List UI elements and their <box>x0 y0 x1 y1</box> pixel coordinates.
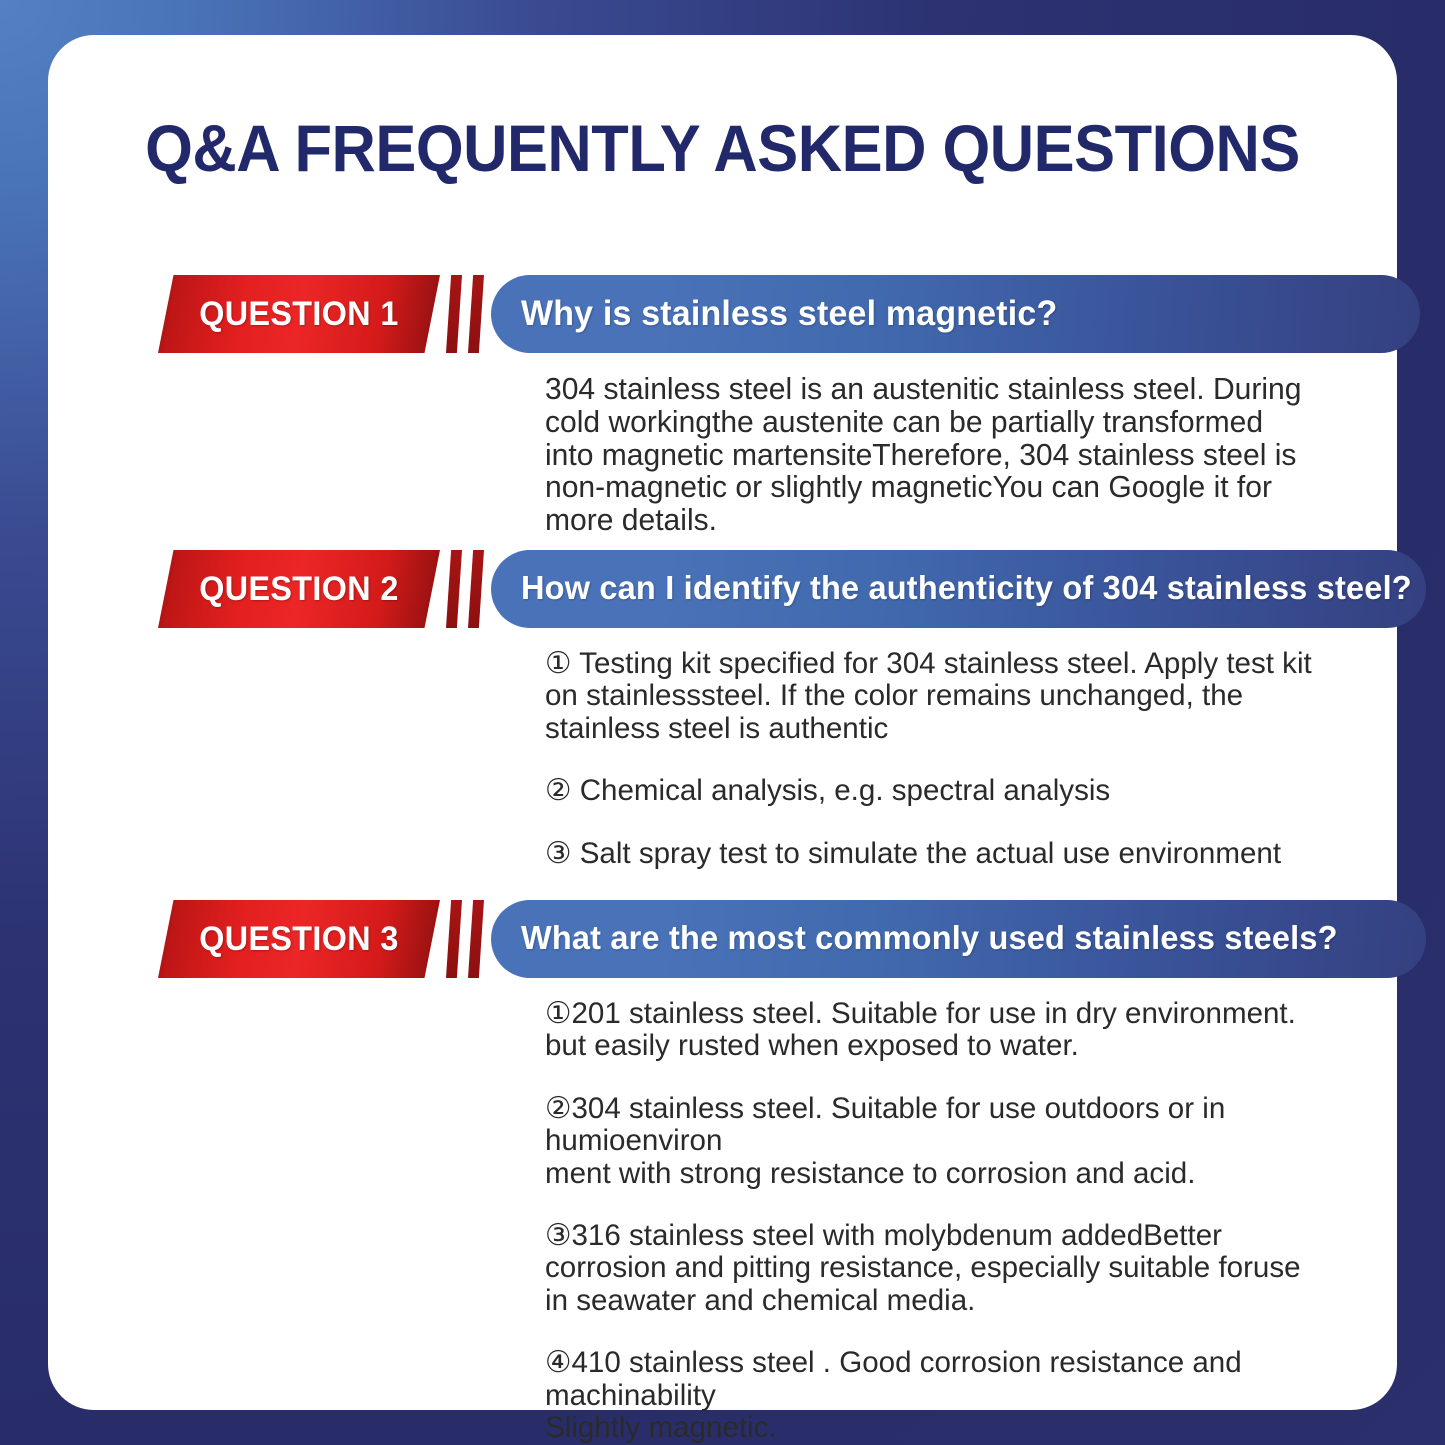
slash-icon <box>446 900 462 978</box>
question-text: What are the most commonly used stainles… <box>521 920 1338 958</box>
question-banner-3: QUESTION 3 What are the most commonly us… <box>48 900 1397 978</box>
answer-paragraph: ④410 stainless steel . Good corrosion re… <box>545 1347 1315 1444</box>
question-pill-2[interactable]: How can I identify the authenticity of 3… <box>491 550 1426 628</box>
question-pill-1[interactable]: Why is stainless steel magnetic? <box>491 275 1420 353</box>
answer-body-1: 304 stainless steel is an austenitic sta… <box>545 373 1315 537</box>
question-tag-1[interactable]: QUESTION 1 <box>158 275 440 353</box>
question-tag-2[interactable]: QUESTION 2 <box>158 550 440 628</box>
answer-paragraph: ① Testing kit specified for 304 stainles… <box>545 648 1315 745</box>
faq-item-1: QUESTION 1 Why is stainless steel magnet… <box>48 275 1397 353</box>
question-tag-label: QUESTION 2 <box>199 570 398 609</box>
answer-paragraph: ② Chemical analysis, e.g. spectral analy… <box>545 775 1315 807</box>
answer-paragraph: ③316 stainless steel with molybdenum add… <box>545 1220 1315 1317</box>
slash-icon <box>446 550 462 628</box>
page-title: Q&A FREQUENTLY ASKED QUESTIONS <box>95 110 1350 186</box>
question-tag-label: QUESTION 3 <box>199 920 398 959</box>
question-pill-3[interactable]: What are the most commonly used stainles… <box>491 900 1426 978</box>
answer-body-2: ① Testing kit specified for 304 stainles… <box>545 648 1315 870</box>
slash-icon <box>468 275 484 353</box>
question-text: How can I identify the authenticity of 3… <box>521 570 1412 608</box>
slash-icon <box>446 275 462 353</box>
question-banner-2: QUESTION 2 How can I identify the authen… <box>48 550 1397 628</box>
faq-item-2: QUESTION 2 How can I identify the authen… <box>48 550 1397 628</box>
question-banner-1: QUESTION 1 Why is stainless steel magnet… <box>48 275 1397 353</box>
question-tag-3[interactable]: QUESTION 3 <box>158 900 440 978</box>
answer-paragraph: ①201 stainless steel. Suitable for use i… <box>545 998 1315 1063</box>
faq-item-3: QUESTION 3 What are the most commonly us… <box>48 900 1397 978</box>
slash-icon <box>468 550 484 628</box>
slash-icon <box>468 900 484 978</box>
answer-paragraph: 304 stainless steel is an austenitic sta… <box>545 373 1315 537</box>
faq-card: Q&A FREQUENTLY ASKED QUESTIONS QUESTION … <box>48 35 1397 1410</box>
answer-body-3: ①201 stainless steel. Suitable for use i… <box>545 998 1315 1444</box>
answer-paragraph: ②304 stainless steel. Suitable for use o… <box>545 1093 1315 1190</box>
answer-paragraph: ③ Salt spray test to simulate the actual… <box>545 838 1315 870</box>
question-tag-label: QUESTION 1 <box>199 295 398 334</box>
question-text: Why is stainless steel magnetic? <box>521 294 1057 334</box>
